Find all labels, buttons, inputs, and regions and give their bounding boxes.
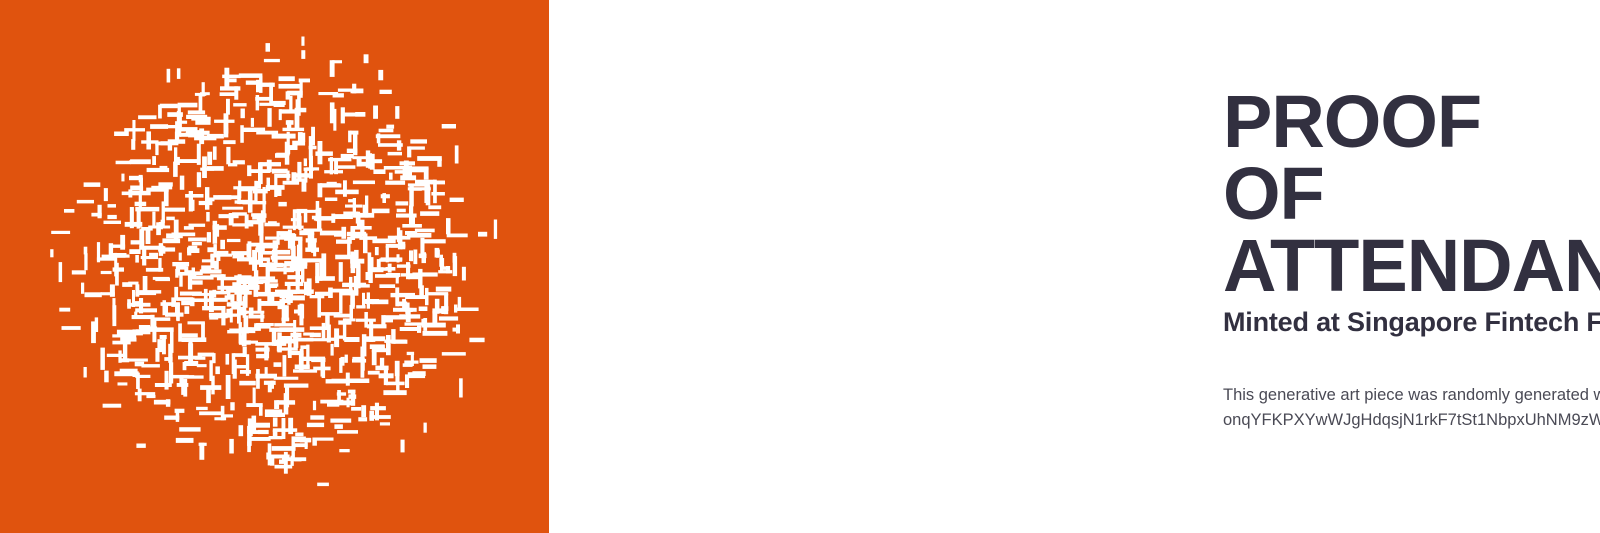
event-subtitle: Minted at Singapore Fintech Festival 202… [1223,307,1600,338]
title-line-attendance: ATTENDANCE [1223,230,1600,302]
proof-of-attendance-certificate: PROOF OF ATTENDANCE Minted at Singapore … [0,0,1600,533]
hash-description-text: This generative art piece was randomly g… [1223,383,1600,408]
page-title: PROOF OF ATTENDANCE Minted at Singapore … [1223,86,1600,338]
title-line-of: OF [1223,158,1600,230]
title-line-proof: PROOF [1223,86,1600,158]
blockchain-hash-value: onqYFKPXYwWJgHdqsjN1rkF7tSt1NbpxUhNM9zWH… [1223,408,1600,433]
hash-description-block: This generative art piece was randomly g… [1223,383,1600,433]
certificate-text-panel: PROOF OF ATTENDANCE Minted at Singapore … [549,0,1600,533]
generative-art-circle [0,0,549,533]
generative-art-panel [0,0,549,533]
